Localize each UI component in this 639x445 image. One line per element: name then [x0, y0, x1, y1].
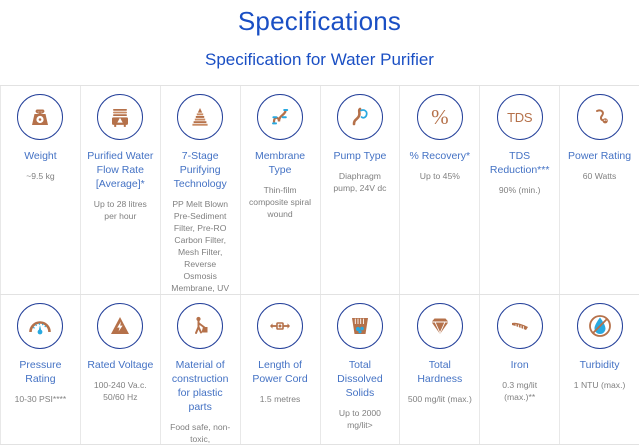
spec-cell-total-dissolved-solids: Total Dissolved Solids Up to 2000 mg/lit…	[320, 295, 400, 444]
spec-value: PP Melt Blown Pre-Sediment Filter, Pre-R…	[167, 198, 234, 294]
power-cord-length-icon	[257, 303, 303, 349]
spec-cell-pump-type: Pump Type Diaphragm pump, 24V dc	[320, 86, 400, 294]
spec-cell-plastic-material: Material of construction for plastic par…	[160, 295, 240, 444]
spec-label: Pump Type	[333, 149, 386, 163]
spec-cell-pressure-rating: Pressure Rating 10-30 PSI****	[0, 295, 80, 444]
percent-glyph: %	[431, 107, 449, 128]
spec-value: 0.3 mg/lit (max.)**	[486, 379, 553, 403]
spec-cell-iron: Iron 0.3 mg/lit (max.)**	[479, 295, 559, 444]
spec-value: Food safe, non-toxic, engineering grade …	[167, 421, 234, 444]
spec-label: % Recovery*	[409, 149, 470, 163]
spec-value: 1 NTU (max.)	[574, 379, 626, 391]
pump-type-icon	[337, 94, 383, 140]
plastic-material-icon	[177, 303, 223, 349]
voltage-warning-icon	[97, 303, 143, 349]
page-title: Specifications	[0, 6, 639, 36]
spec-value: Thin-film composite spiral wound	[247, 184, 314, 220]
spec-label: Power Rating	[568, 149, 631, 163]
total-hardness-diamond-icon	[417, 303, 463, 349]
seven-stage-pyramid-icon	[177, 94, 223, 140]
spec-value: 60 Watts	[583, 170, 617, 182]
spec-cell-total-hardness: Total Hardness 500 mg/lit (max.)	[399, 295, 479, 444]
spec-label: Rated Voltage	[87, 358, 153, 372]
spec-value: 100-240 Va.c. 50/60 Hz	[87, 379, 154, 403]
spec-label: Purified Water Flow Rate [Average]*	[87, 149, 154, 191]
spec-value: Diaphragm pump, 24V dc	[327, 170, 394, 194]
turbidity-icon	[577, 303, 623, 349]
iron-icon	[497, 303, 543, 349]
table-row: Pressure Rating 10-30 PSI**** Rated Volt…	[0, 294, 639, 444]
spec-value: 90% (min.)	[499, 184, 541, 196]
spec-cell-membrane-type: Membrane Type Thin-film composite spiral…	[240, 86, 320, 294]
percent-recovery-icon: %	[417, 94, 463, 140]
spec-value: 1.5 metres	[260, 393, 301, 405]
spec-label: 7-Stage Purifying Technology	[167, 149, 234, 191]
spec-cell-rated-voltage: Rated Voltage 100-240 Va.c. 50/60 Hz	[80, 295, 160, 444]
spec-cell-weight: Weight ~9.5 kg	[0, 86, 80, 294]
specifications-page: Specifications Specification for Water P…	[0, 6, 639, 444]
spec-label: Total Hardness	[406, 358, 473, 386]
spec-value: Up to 28 litres per hour	[87, 198, 154, 222]
tds-icon: TDS	[497, 94, 543, 140]
spec-label: Turbidity	[580, 358, 620, 372]
tds-glyph: TDS	[507, 110, 532, 125]
spec-cell-tds-reduction: TDS TDS Reduction*** 90% (min.)	[479, 86, 559, 294]
spec-label: Iron	[511, 358, 529, 372]
table-row: Weight ~9.5 kg Purified Water Flow Rat	[0, 86, 639, 294]
spec-label: Length of Power Cord	[246, 358, 313, 386]
spec-label: Membrane Type	[246, 149, 313, 177]
page-subtitle: Specification for Water Purifier	[0, 50, 639, 70]
membrane-type-icon	[257, 94, 303, 140]
spec-cell-percent-recovery: % % Recovery* Up to 45%	[399, 86, 479, 294]
water-flow-rate-icon	[97, 94, 143, 140]
spec-value: ~9.5 kg	[26, 170, 54, 182]
spec-cell-seven-stage: 7-Stage Purifying Technology PP Melt Blo…	[160, 86, 240, 294]
power-plug-icon	[577, 94, 623, 140]
spec-label: Pressure Rating	[7, 358, 74, 386]
spec-label: Total Dissolved Solids	[326, 358, 393, 400]
spec-cell-power-rating: Power Rating 60 Watts	[559, 86, 639, 294]
spec-value: 10-30 PSI****	[15, 393, 67, 405]
pressure-gauge-icon	[17, 303, 63, 349]
spec-value: Up to 45%	[420, 170, 460, 182]
total-dissolved-solids-icon	[337, 303, 383, 349]
spec-cell-turbidity: Turbidity 1 NTU (max.)	[559, 295, 639, 444]
spec-cell-flow-rate: Purified Water Flow Rate [Average]* Up t…	[80, 86, 160, 294]
spec-value: 500 mg/lit (max.)	[408, 393, 472, 405]
spec-label: Material of construction for plastic par…	[167, 358, 234, 414]
spec-cell-power-cord-length: Length of Power Cord 1.5 metres	[240, 295, 320, 444]
spec-value: Up to 2000 mg/lit>	[327, 407, 394, 431]
spec-label: Weight	[24, 149, 57, 163]
weighing-scale-icon	[17, 94, 63, 140]
spec-label: TDS Reduction***	[486, 149, 553, 177]
specifications-table: Weight ~9.5 kg Purified Water Flow Rat	[0, 85, 639, 445]
